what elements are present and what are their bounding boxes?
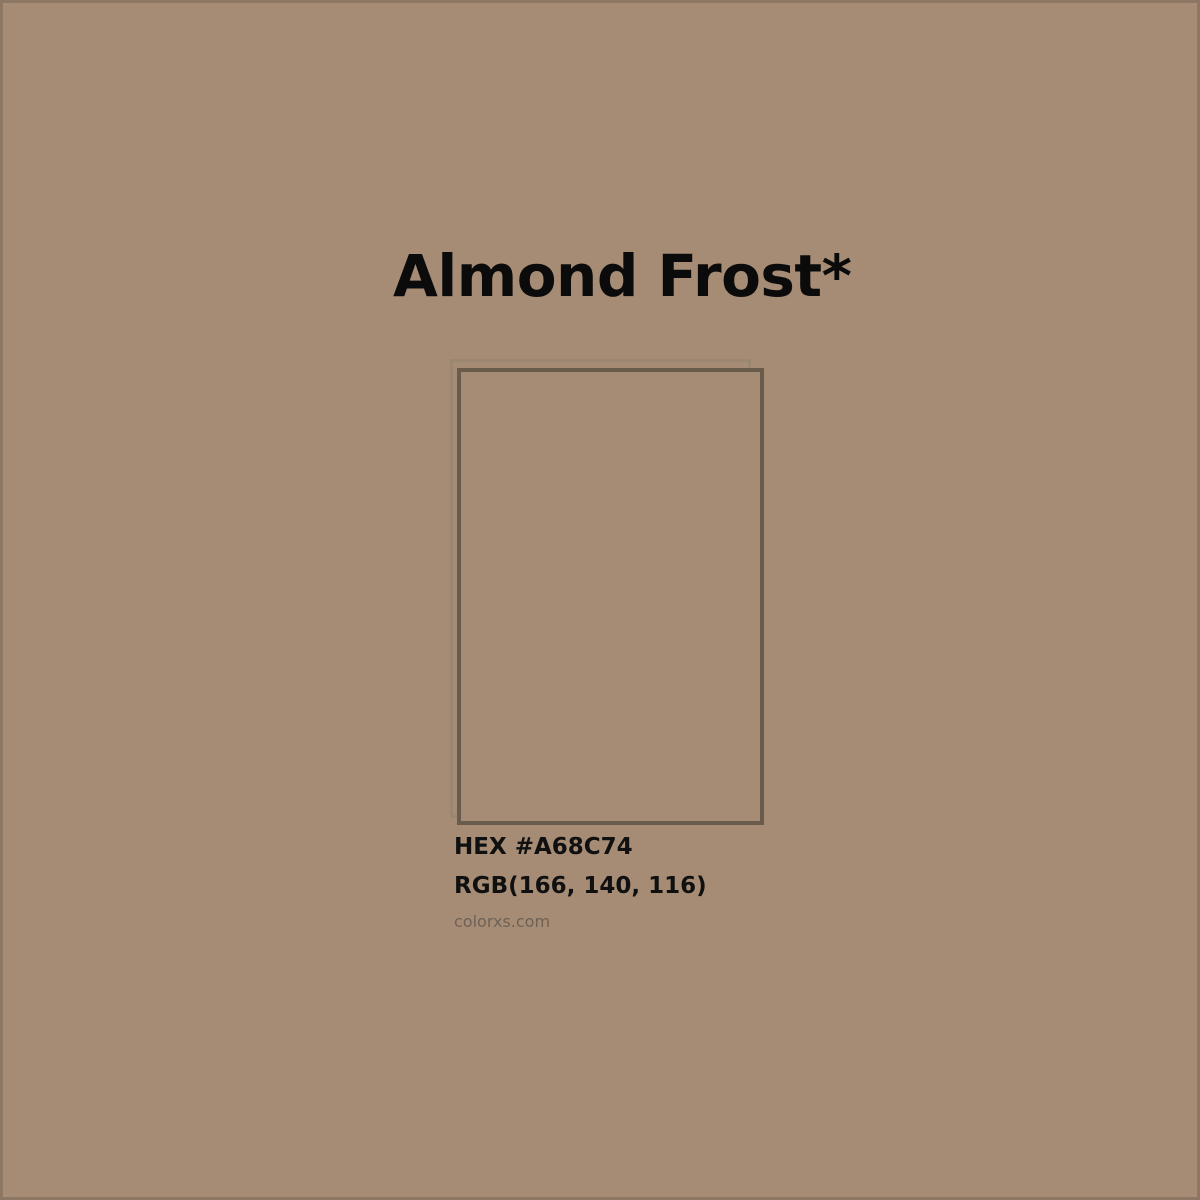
color-card: Almond Frost* HEX #A68C74 RGB(166, 140, …	[0, 0, 1200, 1200]
color-swatch	[447, 356, 767, 828]
swatch-fill	[461, 372, 760, 821]
hex-value: HEX #A68C74	[454, 836, 934, 859]
page-title: Almond Frost*	[393, 246, 852, 307]
source-watermark: colorxs.com	[454, 914, 934, 930]
color-info: HEX #A68C74 RGB(166, 140, 116) colorxs.c…	[454, 836, 934, 930]
rgb-value: RGB(166, 140, 116)	[454, 875, 934, 898]
